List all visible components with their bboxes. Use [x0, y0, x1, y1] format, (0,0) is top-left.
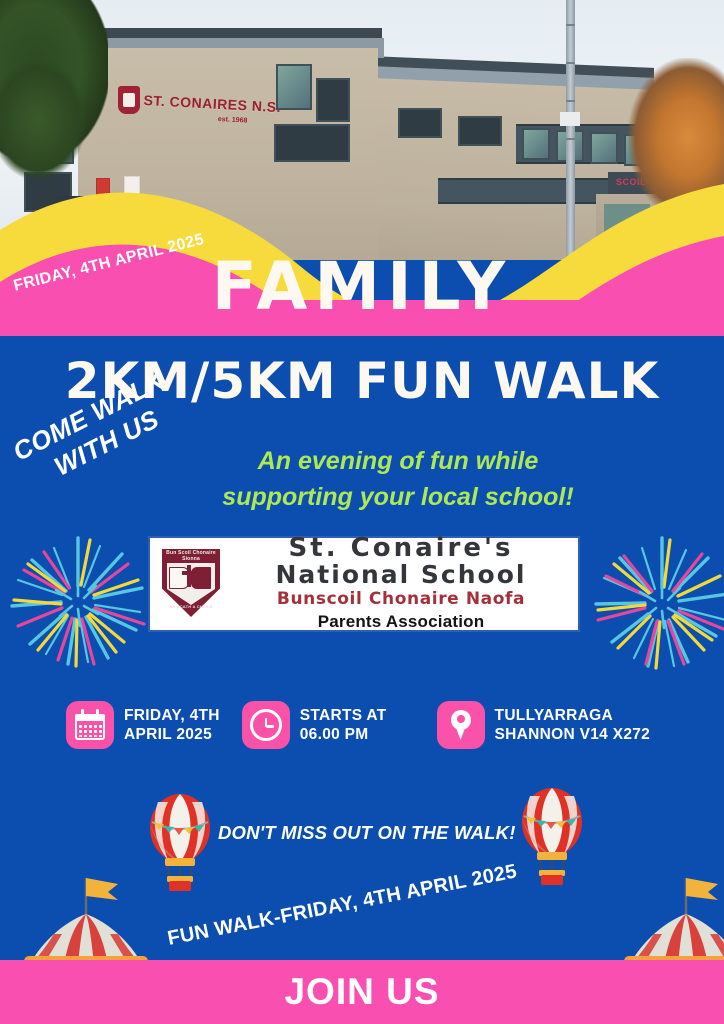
fence: [56, 196, 124, 252]
event-info-row: FRIDAY, 4TH APRIL 2025 STARTS AT 06.00 P…: [66, 696, 706, 754]
location-pin-icon: [437, 701, 485, 749]
crest-top-text: Bun Scoil Chonaire Sionna: [158, 550, 224, 563]
crest-top-line2: Sionna: [158, 556, 224, 562]
clock-icon: [242, 701, 290, 749]
info-time-line2: 06.00 PM: [300, 725, 387, 744]
school-name-line1: St. Conaire's: [230, 535, 572, 561]
info-location-label: TULLYARRAGA SHANNON V14 X272: [495, 706, 651, 745]
window: [590, 132, 618, 164]
join-us-label: JOIN US: [0, 960, 724, 1024]
light-pole: [566, 0, 575, 260]
building-sign-est: est. 1968: [218, 116, 248, 125]
pole-segment: [566, 100, 575, 102]
building-crest-icon: [118, 86, 140, 114]
info-time-line1: STARTS AT: [300, 706, 387, 725]
info-location-line1: TULLYARRAGA: [495, 706, 651, 725]
tagline-line1: An evening of fun while: [188, 444, 608, 480]
pole-segment: [566, 24, 575, 26]
crest-cross-horizontal: [182, 571, 196, 575]
info-location-line2: SHANNON V14 X272: [495, 725, 651, 744]
crest-motto: AR SCATH A CHEILE: [158, 604, 224, 609]
firework-left-icon: [4, 524, 152, 674]
wall-notice: [124, 176, 140, 198]
window: [398, 108, 442, 138]
pole-segment: [566, 138, 575, 140]
info-date-label: FRIDAY, 4TH APRIL 2025: [124, 706, 220, 745]
crest-cross-vertical: [187, 565, 191, 587]
school-name-line2: National School: [230, 561, 572, 589]
tree-right: [628, 58, 724, 218]
window: [276, 64, 312, 110]
school-name-irish: Bunscoil Chonaire Naofa: [230, 589, 572, 610]
info-item-location: TULLYARRAGA SHANNON V14 X272: [437, 701, 651, 749]
window: [458, 116, 502, 146]
school-crest-icon: Bun Scoil Chonaire Sionna AR SCATH A CHE…: [158, 547, 224, 621]
tagline: An evening of fun while supporting your …: [188, 444, 608, 515]
pole-box: [560, 112, 580, 126]
page-title: FAMILY: [0, 248, 724, 325]
info-item-time: STARTS AT 06.00 PM: [242, 701, 387, 749]
calendar-icon: [66, 701, 114, 749]
pole-segment: [566, 62, 575, 64]
window: [316, 78, 350, 122]
tagline-line2: supporting your local school!: [188, 480, 608, 516]
info-time-label: STARTS AT 06.00 PM: [300, 706, 387, 745]
poster-root: ST. CONAIRES N.S. est. 1968 SCOIL CHONAI…: [0, 0, 724, 1024]
firework-right-icon: [588, 524, 724, 674]
school-photo: ST. CONAIRES N.S. est. 1968 SCOIL CHONAI…: [0, 0, 724, 260]
hot-air-balloon-right-icon: [510, 786, 594, 886]
school-logo-text: St. Conaire's National School Bunscoil C…: [230, 535, 578, 633]
info-date-line1: FRIDAY, 4TH: [124, 706, 220, 725]
dont-miss-text: DON'T MISS OUT ON THE WALK!: [218, 822, 516, 844]
info-date-line2: APRIL 2025: [124, 725, 220, 744]
parents-association-label: Parents Association: [230, 611, 572, 633]
window: [274, 124, 350, 162]
school-logo-card: Bun Scoil Chonaire Sionna AR SCATH A CHE…: [148, 536, 580, 632]
info-item-date: FRIDAY, 4TH APRIL 2025: [66, 701, 220, 749]
tree-left-lower: [0, 60, 86, 180]
window: [522, 128, 550, 160]
